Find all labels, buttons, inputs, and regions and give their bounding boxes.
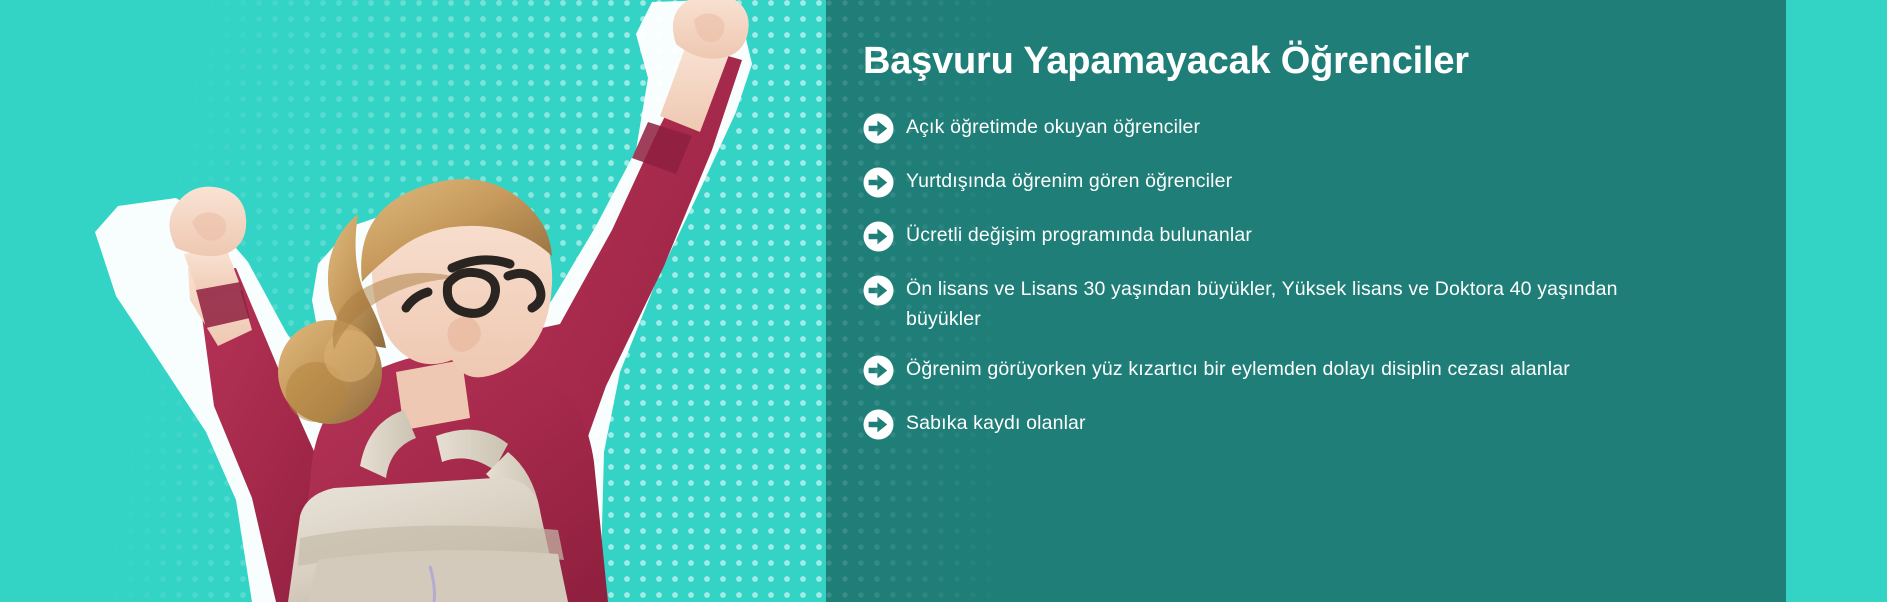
list-item: Açık öğretimde okuyan öğrenciler bbox=[863, 112, 1763, 146]
list-item: Sabıka kaydı olanlar bbox=[863, 408, 1763, 442]
list-item-label: Açık öğretimde okuyan öğrenciler bbox=[906, 112, 1200, 142]
student-photo bbox=[0, 0, 826, 602]
arrow-right-circle-icon bbox=[863, 355, 894, 386]
arrow-right-circle-icon bbox=[863, 167, 894, 198]
arrow-right-circle-icon bbox=[863, 275, 894, 306]
page-title: Başvuru Yapamayacak Öğrenciler bbox=[863, 38, 1469, 84]
ineligible-students-list: Açık öğretimde okuyan öğrenciler Yurtdış… bbox=[863, 112, 1763, 462]
list-item-label: Sabıka kaydı olanlar bbox=[906, 408, 1086, 438]
list-item-label: Öğrenim görüyorken yüz kızartıcı bir eyl… bbox=[906, 354, 1570, 384]
list-item: Öğrenim görüyorken yüz kızartıcı bir eyl… bbox=[863, 354, 1763, 388]
list-item: Ön lisans ve Lisans 30 yaşından büyükler… bbox=[863, 274, 1763, 334]
list-item: Yurtdışında öğrenim gören öğrenciler bbox=[863, 166, 1763, 200]
arrow-right-circle-icon bbox=[863, 221, 894, 252]
list-item-label: Ücretli değişim programında bulunanlar bbox=[906, 220, 1252, 250]
promo-banner: Başvuru Yapamayacak Öğrenciler Açık öğre… bbox=[0, 0, 1887, 602]
banner-content: Başvuru Yapamayacak Öğrenciler Açık öğre… bbox=[863, 0, 1763, 602]
list-item-label: Yurtdışında öğrenim gören öğrenciler bbox=[906, 166, 1232, 196]
list-item: Ücretli değişim programında bulunanlar bbox=[863, 220, 1763, 254]
arrow-right-circle-icon bbox=[863, 409, 894, 440]
right-accent-strip bbox=[1786, 0, 1887, 602]
arrow-right-circle-icon bbox=[863, 113, 894, 144]
list-item-label: Ön lisans ve Lisans 30 yaşından büyükler… bbox=[906, 274, 1618, 334]
